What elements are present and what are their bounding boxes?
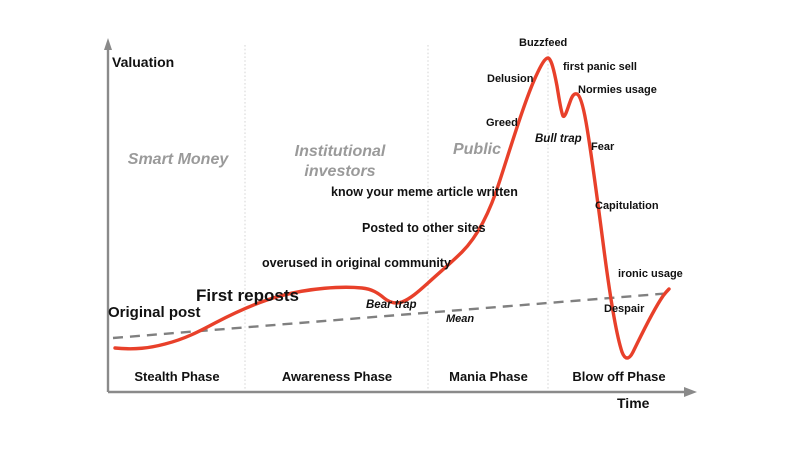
annotation-first-panic-sell: first panic sell [563, 62, 637, 74]
phase-label-stealth: Stealth Phase [110, 370, 244, 384]
annotation-mean: Mean [446, 314, 474, 326]
x-axis-label: Time [617, 396, 649, 411]
y-axis-arrowhead [104, 38, 112, 50]
annotation-despair: Despair [604, 304, 644, 316]
annotation-ironic-usage: ironic usage [618, 269, 683, 281]
band-label-smart-money: Smart Money [118, 152, 238, 169]
band-label-public: Public [432, 142, 522, 159]
bubble-cycle-chart: Valuation Time Smart Money Institutional… [0, 0, 800, 450]
phase-label-blowoff: Blow off Phase [549, 370, 689, 384]
phase-label-mania: Mania Phase [429, 370, 548, 384]
annotation-normies-usage: Normies usage [578, 85, 657, 97]
annotation-delusion: Delusion [487, 74, 533, 86]
y-axis-label: Valuation [112, 55, 174, 70]
phase-label-awareness: Awareness Phase [246, 370, 428, 384]
annotation-first-reposts: First reposts [196, 287, 299, 305]
annotation-know-your-meme-article-written: know your meme article written [331, 186, 518, 199]
x-axis-arrowhead [684, 387, 697, 397]
annotation-original-post: Original post [108, 305, 201, 321]
annotation-bull-trap: Bull trap [535, 133, 582, 145]
annotation-buzzfeed: Buzzfeed [519, 38, 567, 50]
annotation-overused-in-original-community: overused in original community [262, 257, 451, 270]
annotation-greed: Greed [486, 118, 518, 130]
annotation-fear: Fear [591, 142, 614, 154]
annotation-bear-trap: Bear trap [366, 299, 417, 311]
band-label-institutional-line1: Institutional [270, 142, 410, 162]
band-label-institutional-line2: investors [270, 162, 410, 182]
band-label-institutional-investors: Institutional investors [270, 142, 410, 183]
annotation-posted-to-other-sites: Posted to other sites [362, 222, 486, 235]
annotation-capitulation: Capitulation [595, 201, 659, 213]
